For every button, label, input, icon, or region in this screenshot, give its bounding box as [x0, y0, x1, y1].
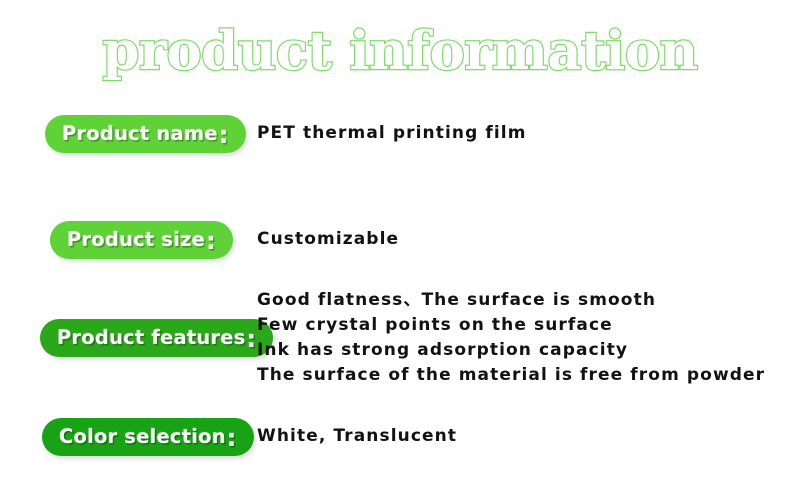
- product-name-value: PET thermal printing film: [257, 123, 527, 143]
- badge-color-selection: Color selection:: [42, 418, 254, 456]
- product-feature-line: Few crystal points on the surface: [257, 313, 765, 338]
- product-size-row: Product size: Customizable: [0, 218, 800, 262]
- product-features-value-list: Good flatness、The surface is smooth Few …: [257, 288, 765, 388]
- page-title-container: product information: [0, 22, 800, 84]
- product-name-row: Product name: PET thermal printing film: [0, 112, 800, 156]
- product-size-value: Customizable: [257, 229, 399, 249]
- product-features-row: Product features: Good flatness、The surf…: [0, 288, 800, 388]
- badge-product-features-colon: :: [247, 327, 257, 351]
- badge-product-name-colon: :: [219, 123, 229, 147]
- badge-color-selection-label: Color selection: [59, 427, 226, 447]
- color-selection-value: White, Translucent: [257, 426, 457, 446]
- product-feature-line: Ink has strong adsorption capacity: [257, 338, 765, 363]
- badge-product-features-label: Product features: [57, 328, 246, 348]
- badge-product-name-label: Product name: [62, 124, 218, 144]
- badge-product-size-label: Product size: [67, 230, 205, 250]
- badge-product-features: Product features:: [40, 319, 273, 357]
- badge-product-name: Product name:: [45, 115, 246, 153]
- color-selection-row: Color selection: White, Translucent: [0, 415, 800, 459]
- product-information-page: product information Product name: PET th…: [0, 0, 800, 500]
- product-feature-line: The surface of the material is free from…: [257, 363, 765, 388]
- page-title: product information: [102, 22, 697, 80]
- badge-product-size-colon: :: [206, 229, 216, 253]
- badge-product-size: Product size:: [50, 221, 233, 259]
- product-feature-line: Good flatness、The surface is smooth: [257, 288, 765, 313]
- badge-color-selection-colon: :: [227, 426, 237, 450]
